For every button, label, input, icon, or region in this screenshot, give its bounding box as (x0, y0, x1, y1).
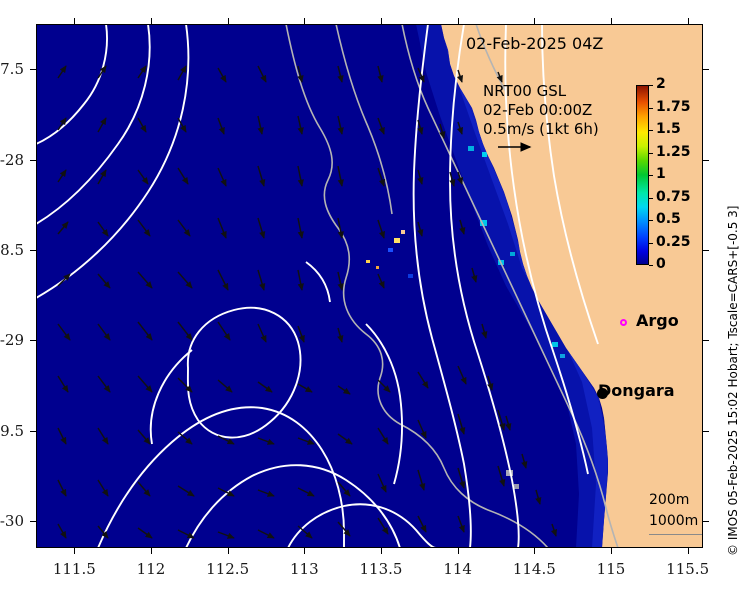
colorbar-tick-label: 1.5 (656, 121, 681, 137)
x-tick (458, 548, 459, 554)
y-tick-label: -28.5 (0, 241, 24, 259)
x-tick-top (534, 18, 535, 24)
colorbar-tick-label: 1 (656, 166, 666, 182)
colorbar-tick-label: 0.25 (656, 234, 691, 250)
x-tick-label: 114.5 (494, 560, 574, 578)
colorbar-tick-label: 0.75 (656, 189, 691, 205)
y-tick (30, 250, 36, 251)
x-tick-label: 114 (418, 560, 498, 578)
colorbar-tick (649, 265, 653, 266)
colorbar-tick (649, 130, 653, 131)
y-tick-label: -28 (0, 151, 24, 169)
colorbar-tick (649, 153, 653, 154)
x-tick (228, 548, 229, 554)
y-tick (30, 69, 36, 70)
colorbar-tick (649, 198, 653, 199)
y-tick (30, 431, 36, 432)
x-tick (381, 548, 382, 554)
x-tick (534, 548, 535, 554)
y-tick-right (703, 69, 709, 70)
y-tick-right (703, 160, 709, 161)
x-tick-top (304, 18, 305, 24)
x-tick (304, 548, 305, 554)
x-tick-top (458, 18, 459, 24)
x-tick-top (228, 18, 229, 24)
y-tick-right (703, 521, 709, 522)
y-tick (30, 160, 36, 161)
x-tick-label: 112.5 (188, 560, 268, 578)
y-tick-label: -29.5 (0, 422, 24, 440)
x-tick-label: 113 (264, 560, 344, 578)
x-tick (688, 548, 689, 554)
y-tick (30, 521, 36, 522)
x-tick-label: 111.5 (34, 560, 114, 578)
x-tick (611, 548, 612, 554)
colorbar-tick-label: 1.75 (656, 99, 691, 115)
map-plot-area: 02-Feb-2025 04Z NRT00 GSL 02-Feb 00:00Z … (36, 24, 703, 548)
x-tick-top (74, 18, 75, 24)
colorbar-tick-label: 0.5 (656, 211, 681, 227)
colorbar-gradient (636, 85, 649, 265)
x-tick (151, 548, 152, 554)
x-tick-top (611, 18, 612, 24)
colorbar-tick (649, 85, 653, 86)
y-tick-label: -27.5 (0, 60, 24, 78)
y-tick-right (703, 340, 709, 341)
colorbar: 21.751.51.2510.750.50.250 Age (days) of … (36, 24, 703, 548)
y-tick-label: -29 (0, 331, 24, 349)
y-tick-right (703, 431, 709, 432)
x-tick-top (688, 18, 689, 24)
colorbar-tick-label: 0 (656, 256, 666, 272)
colorbar-tick (649, 243, 653, 244)
x-tick-label: 112 (111, 560, 191, 578)
x-tick-label: 113.5 (341, 560, 421, 578)
y-tick-label: -30 (0, 512, 24, 530)
colorbar-tick (649, 108, 653, 109)
x-tick-top (381, 18, 382, 24)
colorbar-tick-label: 2 (656, 76, 666, 92)
y-tick (30, 340, 36, 341)
colorbar-tick-label: 1.25 (656, 144, 691, 160)
x-tick-label: 115 (571, 560, 651, 578)
x-tick (74, 548, 75, 554)
x-tick-label: 115.5 (648, 560, 728, 578)
colorbar-tick (649, 175, 653, 176)
y-tick-right (703, 250, 709, 251)
credit-line: © IMOS 05-Feb-2025 15:02 Hobart; Tscale=… (726, 206, 740, 556)
colorbar-tick (649, 220, 653, 221)
x-tick-top (151, 18, 152, 24)
